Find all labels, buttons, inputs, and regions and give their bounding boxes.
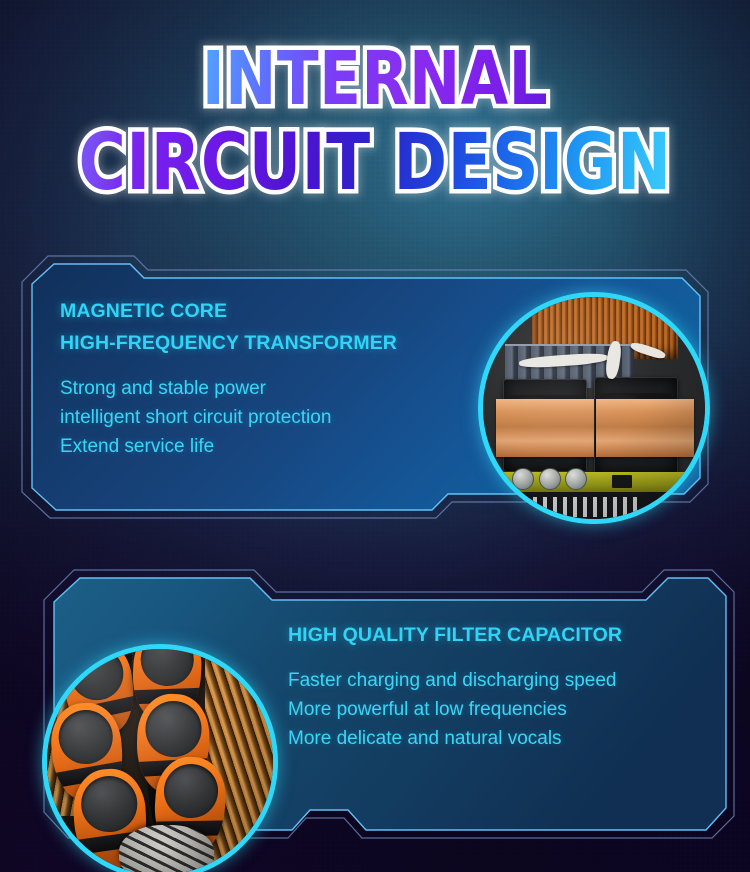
page-title: INTERNAL INTERNAL INTERNAL CIRCUIT DESIG… xyxy=(0,42,750,208)
title-line-2-fill: CIRCUIT DESIGN xyxy=(30,124,720,202)
pcb-chip xyxy=(612,475,632,488)
copper-foil-right xyxy=(596,399,694,457)
title-line-2: CIRCUIT DESIGN CIRCUIT DESIGN CIRCUIT DE… xyxy=(30,124,720,208)
panel-2-body-line-3: More delicate and natural vocals xyxy=(288,724,708,753)
panel-1-body-line-1: Strong and stable power xyxy=(60,374,500,403)
high-frequency-transformer-photo xyxy=(478,292,710,524)
panel-1-heading-line-2: HIGH-FREQUENCY TRANSFORMER xyxy=(60,328,500,360)
filter-capacitor-photo xyxy=(42,644,278,872)
pcb-capacitor-1 xyxy=(512,468,534,490)
panel-2-text: HIGH QUALITY FILTER CAPACITOR Faster cha… xyxy=(288,620,708,753)
copper-foil-left xyxy=(496,399,594,457)
title-line-1: INTERNAL INTERNAL INTERNAL xyxy=(30,42,720,120)
panel-1-heading: MAGNETIC CORE HIGH-FREQUENCY TRANSFORMER xyxy=(60,296,500,359)
panel-1-body: Strong and stable power intelligent shor… xyxy=(60,374,500,461)
pcb-capacitor-2 xyxy=(539,468,561,490)
panel-2-body-line-1: Faster charging and discharging speed xyxy=(288,666,708,695)
panel-2-heading-line-1: HIGH QUALITY FILTER CAPACITOR xyxy=(288,620,708,652)
title-line-1-fill: INTERNAL xyxy=(30,42,720,116)
panel-1-text: MAGNETIC CORE HIGH-FREQUENCY TRANSFORMER… xyxy=(60,296,500,461)
panel-1-body-line-3: Extend service life xyxy=(60,432,500,461)
panel-2-body: Faster charging and discharging speed Mo… xyxy=(288,666,708,753)
panel-1-heading-line-1: MAGNETIC CORE xyxy=(60,296,500,328)
panel-1-body-line-2: intelligent short circuit protection xyxy=(60,403,500,432)
capacitor-photo-content xyxy=(47,649,273,872)
panel-2-heading: HIGH QUALITY FILTER CAPACITOR xyxy=(288,620,708,652)
transformer-photo-content xyxy=(483,297,705,519)
chassis-vents xyxy=(523,497,638,517)
panel-2-body-line-2: More powerful at low frequencies xyxy=(288,695,708,724)
insulation-pad xyxy=(119,825,214,872)
